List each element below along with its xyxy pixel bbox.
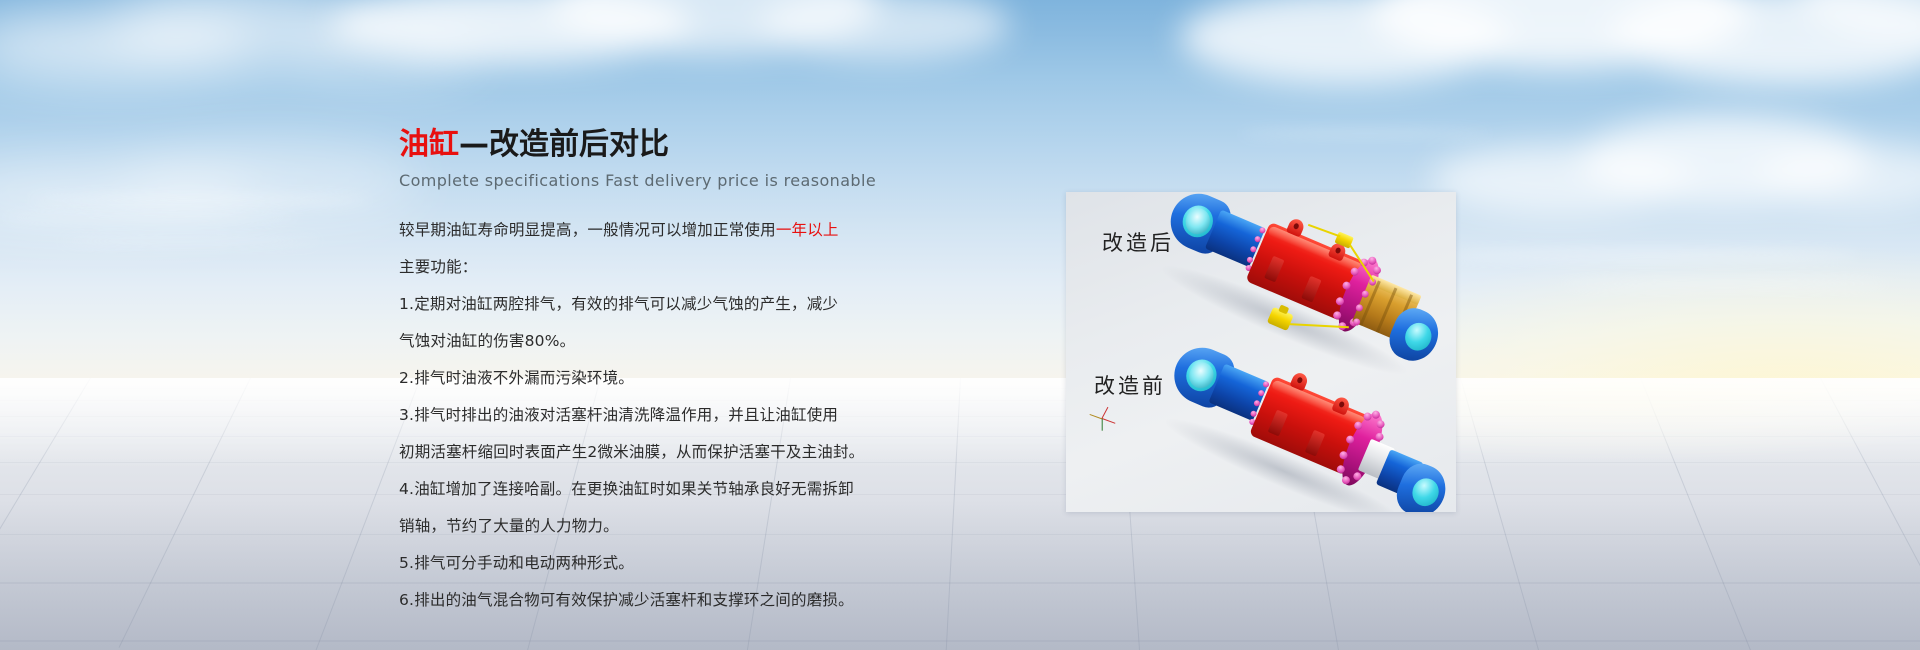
label-before-modification: 改造前 bbox=[1094, 370, 1166, 400]
cloud-streak-6 bbox=[1240, 130, 1490, 137]
feature-line: 1.定期对油缸两腔排气，有效的排气可以减少气蚀的产生，减少 bbox=[399, 290, 999, 319]
page-title: 油缸—改造前后对比 bbox=[399, 128, 999, 161]
feature-line: 2.排气时油液不外漏而污染环境。 bbox=[399, 364, 999, 393]
banner-stage: 油缸—改造前后对比 Complete specifications Fast d… bbox=[0, 0, 1920, 650]
feature-line: 3.排气时排出的油液对活塞杆油清洗降温作用，并且让油缸使用 bbox=[399, 401, 999, 430]
axis-triad-icon bbox=[1088, 404, 1122, 434]
product-image-panel: 改造后 改造前 bbox=[1066, 192, 1456, 512]
cloud-streak-3 bbox=[60, 238, 320, 244]
intro-line: 较早期油缸寿命明显提高，一般情况可以增加正常使用一年以上 bbox=[399, 216, 999, 245]
cloud-streak-4 bbox=[1440, 250, 1860, 260]
cloud-right-mid bbox=[1430, 95, 1920, 245]
feature-line: 6.排出的油气混合物可有效保护减少活塞杆和支撑环之间的磨损。 bbox=[399, 586, 999, 615]
feature-line: 销轴，节约了大量的人力物力。 bbox=[399, 512, 999, 541]
functions-heading: 主要功能： bbox=[399, 253, 999, 282]
feature-line: 5.排气可分手动和电动两种形式。 bbox=[399, 549, 999, 578]
page-title-rest: —改造前后对比 bbox=[459, 127, 669, 162]
page-subtitle: Complete specifications Fast delivery pr… bbox=[399, 171, 999, 190]
feature-text-block: 较早期油缸寿命明显提高，一般情况可以增加正常使用一年以上 主要功能： 1.定期对… bbox=[399, 216, 999, 615]
cloud-streak-5 bbox=[1560, 280, 1890, 288]
banner-copy: 油缸—改造前后对比 Complete specifications Fast d… bbox=[399, 128, 999, 623]
cloud-streak-1 bbox=[30, 196, 370, 205]
page-title-highlight: 油缸 bbox=[399, 127, 459, 162]
intro-prefix: 较早期油缸寿命明显提高，一般情况可以增加正常使用 bbox=[399, 221, 776, 239]
intro-highlight: 一年以上 bbox=[776, 221, 839, 239]
feature-line: 气蚀对油缸的伤害80%。 bbox=[399, 327, 999, 356]
feature-line: 初期活塞杆缩回时表面产生2微米油膜，从而保护活塞干及主油封。 bbox=[399, 438, 999, 467]
bleed-valve-wire-upper-after bbox=[1308, 224, 1341, 238]
cloud-top-center bbox=[330, 0, 1010, 85]
cloud-streak-2 bbox=[0, 214, 300, 221]
feature-line: 4.油缸增加了连接哈副。在更换油缸时如果关节轴承良好无需拆卸 bbox=[399, 475, 999, 504]
